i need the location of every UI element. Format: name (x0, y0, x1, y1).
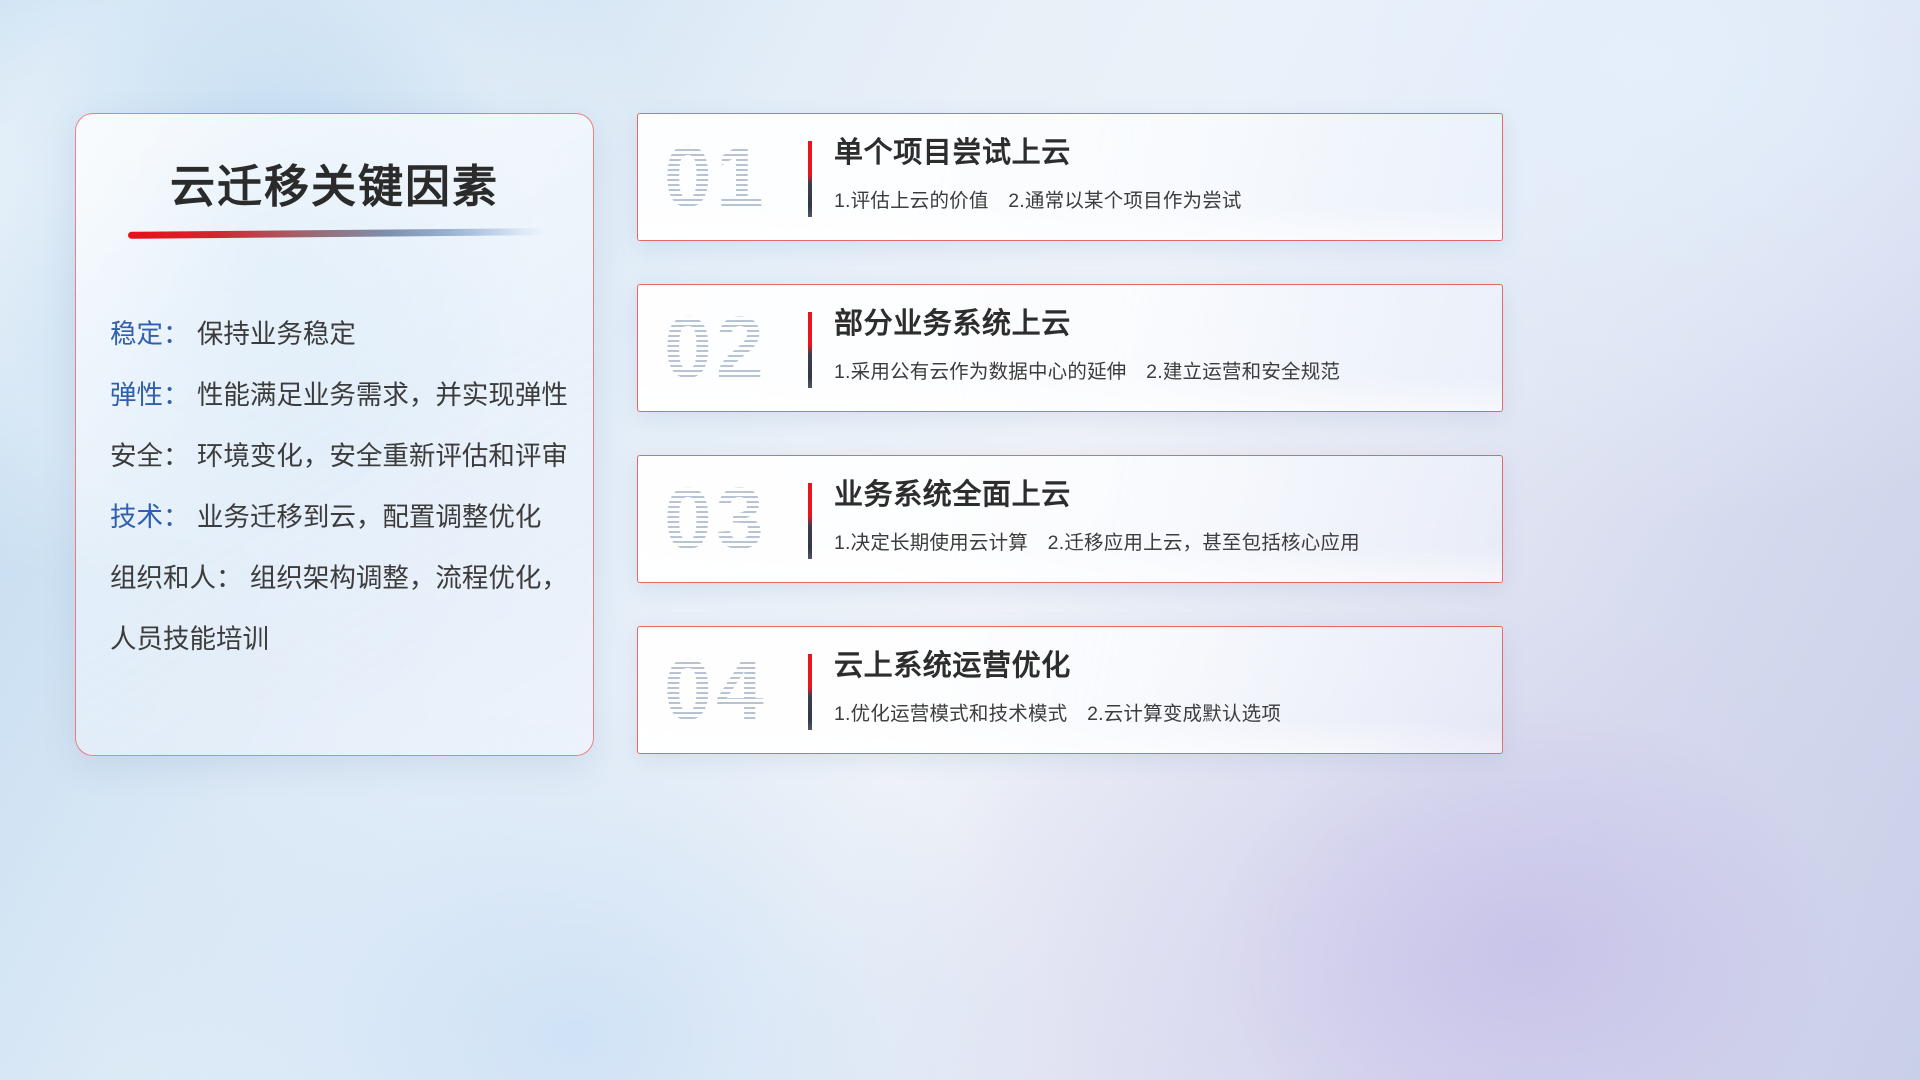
accent-bar (808, 141, 812, 217)
stage-card-text: 业务系统全面上云1.决定长期使用云计算 2.迁移应用上云，甚至包括核心应用 (834, 477, 1484, 555)
stage-number-watermark: 01 (664, 134, 768, 220)
factor-description: 组织架构调整，流程优化， (250, 563, 568, 593)
stage-card-subtitle: 1.评估上云的价值 2.通常以某个项目作为尝试 (834, 184, 1484, 213)
stage-card-text: 单个项目尝试上云1.评估上云的价值 2.通常以某个项目作为尝试 (834, 135, 1484, 213)
factor-description: 性能满足业务需求，并实现弹性 (197, 380, 568, 410)
accent-bar (808, 654, 812, 730)
key-factors-panel: 云迁移关键因素 稳定： 保持业务稳定弹性： 性能满足业务需求，并实现弹性安全： … (75, 113, 594, 756)
stage-number-watermark: 04 (664, 647, 768, 733)
stage-card-text: 云上系统运营优化1.优化运营模式和技术模式 2.云计算变成默认选项 (834, 648, 1484, 726)
stage-card[interactable]: 02部分业务系统上云1.采用公有云作为数据中心的延伸 2.建立运营和安全规范 (637, 284, 1503, 412)
page-title: 云迁移关键因素 (76, 150, 593, 215)
factor-description: 人员技能培训 (110, 624, 269, 654)
slide-canvas: 云迁移关键因素 稳定： 保持业务稳定弹性： 性能满足业务需求，并实现弹性安全： … (0, 0, 1920, 1080)
stage-card-subtitle: 1.优化运营模式和技术模式 2.云计算变成默认选项 (834, 697, 1484, 726)
stage-card-subtitle: 1.采用公有云作为数据中心的延伸 2.建立运营和安全规范 (834, 355, 1484, 384)
factor-list: 稳定： 保持业务稳定弹性： 性能满足业务需求，并实现弹性安全： 环境变化，安全重… (110, 304, 575, 670)
accent-bar (808, 312, 812, 388)
accent-bar (808, 483, 812, 559)
stage-card-title: 业务系统全面上云 (834, 477, 1484, 515)
factor-row: 安全： 环境变化，安全重新评估和评审 (110, 426, 575, 487)
stage-card[interactable]: 01单个项目尝试上云1.评估上云的价值 2.通常以某个项目作为尝试 (637, 113, 1503, 241)
stage-card[interactable]: 04云上系统运营优化1.优化运营模式和技术模式 2.云计算变成默认选项 (637, 626, 1503, 754)
stage-card-list: 01单个项目尝试上云1.评估上云的价值 2.通常以某个项目作为尝试02部分业务系… (637, 113, 1503, 797)
factor-label: 安全： (110, 441, 190, 471)
stage-card[interactable]: 03业务系统全面上云1.决定长期使用云计算 2.迁移应用上云，甚至包括核心应用 (637, 455, 1503, 583)
factor-label: 技术： (110, 502, 190, 532)
factor-row: 弹性： 性能满足业务需求，并实现弹性 (110, 365, 575, 426)
stage-number-watermark: 03 (664, 476, 768, 562)
factor-row: 稳定： 保持业务稳定 (110, 304, 575, 365)
title-underline-rule (128, 228, 548, 239)
factor-label: 组织和人： (110, 563, 243, 593)
factor-label: 稳定： (110, 319, 190, 349)
stage-number-watermark: 02 (664, 305, 768, 391)
stage-card-text: 部分业务系统上云1.采用公有云作为数据中心的延伸 2.建立运营和安全规范 (834, 306, 1484, 384)
factor-row: 人员技能培训 (110, 609, 575, 670)
factor-description: 保持业务稳定 (197, 319, 356, 349)
factor-label: 弹性： (110, 380, 190, 410)
stage-card-subtitle: 1.决定长期使用云计算 2.迁移应用上云，甚至包括核心应用 (834, 526, 1484, 555)
factor-description: 业务迁移到云，配置调整优化 (197, 502, 542, 532)
factor-row: 组织和人： 组织架构调整，流程优化， (110, 548, 575, 609)
factor-description: 环境变化，安全重新评估和评审 (197, 441, 568, 471)
stage-card-title: 部分业务系统上云 (834, 306, 1484, 344)
stage-card-title: 云上系统运营优化 (834, 648, 1484, 686)
stage-card-title: 单个项目尝试上云 (834, 135, 1484, 173)
factor-row: 技术： 业务迁移到云，配置调整优化 (110, 487, 575, 548)
